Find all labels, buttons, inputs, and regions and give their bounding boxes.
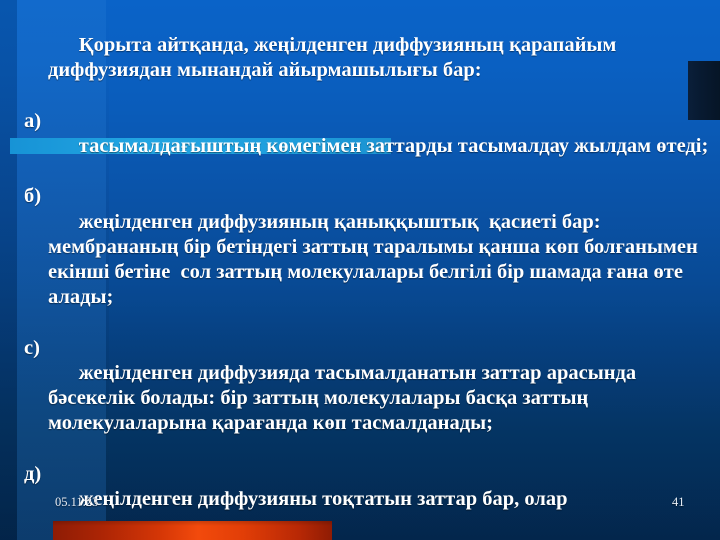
paragraph-text-intro: Қорыта айтқанда, жеңілденген диффузияның… (48, 34, 622, 81)
paragraph-text-a: тасымалдағыштың көмегімен заттарды тасым… (79, 135, 709, 157)
paragraph-marker-b: б) (24, 184, 41, 209)
paragraph-item-a: а)тасымалдағыштың көмегімен заттарды тас… (10, 109, 712, 185)
accent-bar-decoration (53, 521, 332, 540)
paragraph-item-b: б)жеңілденген диффузияның қаныққыштық қа… (10, 184, 712, 335)
slide-body-text: Қорыта айтқанда, жеңілденген диффузияның… (0, 8, 720, 540)
footer-date: 05.11.23 (55, 495, 98, 510)
paragraph-text-d: жеңілденген диффузияны тоқтатын заттар б… (79, 488, 568, 510)
paragraph-marker-d: д) (24, 462, 41, 487)
paragraph-marker-c: с) (24, 336, 40, 361)
paragraph-text-c: жеңілденген диффузияда тасымалданатын за… (48, 362, 641, 434)
paragraph-text-b: жеңілденген диффузияның қаныққыштық қаси… (48, 211, 703, 309)
paragraph-intro: Қорыта айтқанда, жеңілденген диффузияның… (10, 8, 712, 109)
paragraph-marker-a: а) (24, 109, 41, 134)
footer-page-number: 41 (672, 495, 685, 510)
paragraph-item-c: с)жеңілденген диффузияда тасымалданатын … (10, 336, 712, 462)
presentation-slide: Қорыта айтқанда, жеңілденген диффузияның… (0, 0, 720, 540)
